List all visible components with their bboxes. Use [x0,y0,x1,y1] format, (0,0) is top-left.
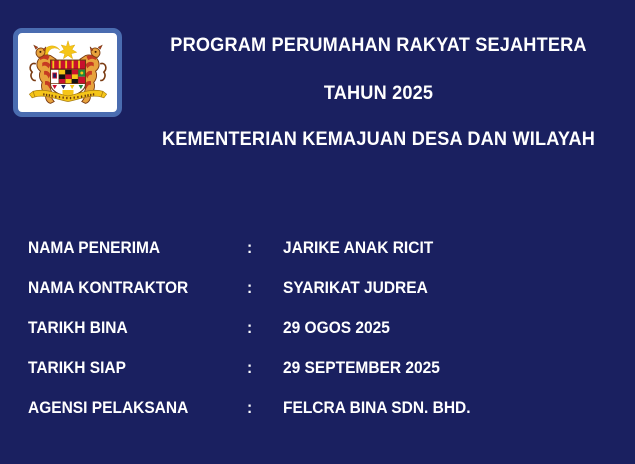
program-title: PROGRAM PERUMAHAN RAKYAT SEJAHTERA [140,34,617,57]
detail-separator: : [247,228,252,268]
detail-separator: : [247,308,252,348]
detail-value: JARIKE ANAK RICIT [283,228,433,268]
detail-value: FELCRA BINA SDN. BHD. [283,388,471,428]
detail-label: TARIKH SIAP [28,348,126,388]
detail-row-agensi-pelaksana: AGENSI PELAKSANA : FELCRA BINA SDN. BHD. [0,388,635,428]
jata-negara-malaysia-emblem [22,36,114,110]
detail-label: NAMA KONTRAKTOR [28,268,188,308]
detail-value: 29 SEPTEMBER 2025 [283,348,440,388]
emblem-frame [13,28,122,117]
detail-row-nama-kontraktor: NAMA KONTRAKTOR : SYARIKAT JUDREA [0,268,635,308]
detail-label: AGENSI PELAKSANA [28,388,188,428]
project-signboard: PROGRAM PERUMAHAN RAKYAT SEJAHTERA TAHUN… [0,0,635,464]
detail-separator: : [247,388,252,428]
detail-row-tarikh-bina: TARIKH BINA : 29 OGOS 2025 [0,308,635,348]
detail-label: NAMA PENERIMA [28,228,160,268]
detail-row-tarikh-siap: TARIKH SIAP : 29 SEPTEMBER 2025 [0,348,635,388]
detail-label: TARIKH BINA [28,308,128,348]
detail-row-nama-penerima: NAMA PENERIMA : JARIKE ANAK RICIT [0,228,635,268]
project-details-table: NAMA PENERIMA : JARIKE ANAK RICIT NAMA K… [0,228,635,428]
detail-separator: : [247,268,252,308]
detail-value: SYARIKAT JUDREA [283,268,428,308]
signboard-header: PROGRAM PERUMAHAN RAKYAT SEJAHTERA TAHUN… [0,0,635,168]
header-title-block: PROGRAM PERUMAHAN RAKYAT SEJAHTERA TAHUN… [122,0,635,168]
program-year: TAHUN 2025 [140,82,617,105]
ministry-name: KEMENTERIAN KEMAJUAN DESA DAN WILAYAH [140,128,617,151]
detail-value: 29 OGOS 2025 [283,308,390,348]
detail-separator: : [247,348,252,388]
